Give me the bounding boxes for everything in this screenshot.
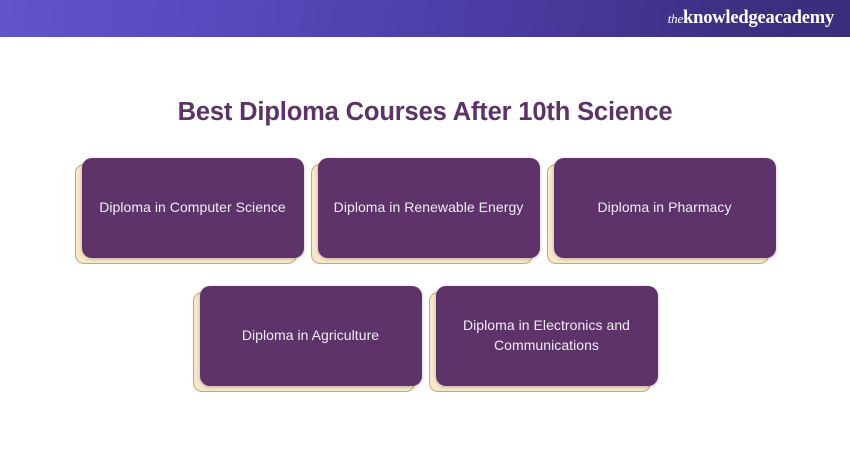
card-face[interactable]: Diploma in Computer Science	[82, 158, 304, 258]
logo-main-text: knowledgeacademy	[683, 8, 834, 28]
course-card-label: Diploma in Computer Science	[99, 198, 286, 218]
course-card[interactable]: Diploma in Computer Science	[75, 158, 304, 264]
course-card[interactable]: Diploma in Electronics and Communication…	[429, 286, 658, 392]
course-card-label: Diploma in Agriculture	[242, 326, 379, 346]
course-card[interactable]: Diploma in Agriculture	[193, 286, 422, 392]
course-card-label: Diploma in Pharmacy	[598, 198, 732, 218]
course-card-label: Diploma in Renewable Energy	[334, 198, 524, 218]
knowledge-academy-logo: theknowledgeacademy	[668, 9, 834, 28]
page-title: Best Diploma Courses After 10th Science	[0, 97, 850, 128]
card-face[interactable]: Diploma in Electronics and Communication…	[436, 286, 658, 386]
logo-prefix-text: the	[668, 11, 683, 26]
course-card-grid: Diploma in Computer Science Diploma in R…	[0, 158, 850, 392]
course-card-label: Diploma in Electronics and Communication…	[450, 316, 644, 356]
course-card[interactable]: Diploma in Renewable Energy	[311, 158, 540, 264]
card-row-2: Diploma in Agriculture Diploma in Electr…	[0, 286, 850, 392]
card-face[interactable]: Diploma in Renewable Energy	[318, 158, 540, 258]
card-face[interactable]: Diploma in Pharmacy	[554, 158, 776, 258]
brand-header: theknowledgeacademy	[0, 0, 850, 37]
card-row-1: Diploma in Computer Science Diploma in R…	[0, 158, 850, 264]
course-card[interactable]: Diploma in Pharmacy	[547, 158, 776, 264]
card-face[interactable]: Diploma in Agriculture	[200, 286, 422, 386]
